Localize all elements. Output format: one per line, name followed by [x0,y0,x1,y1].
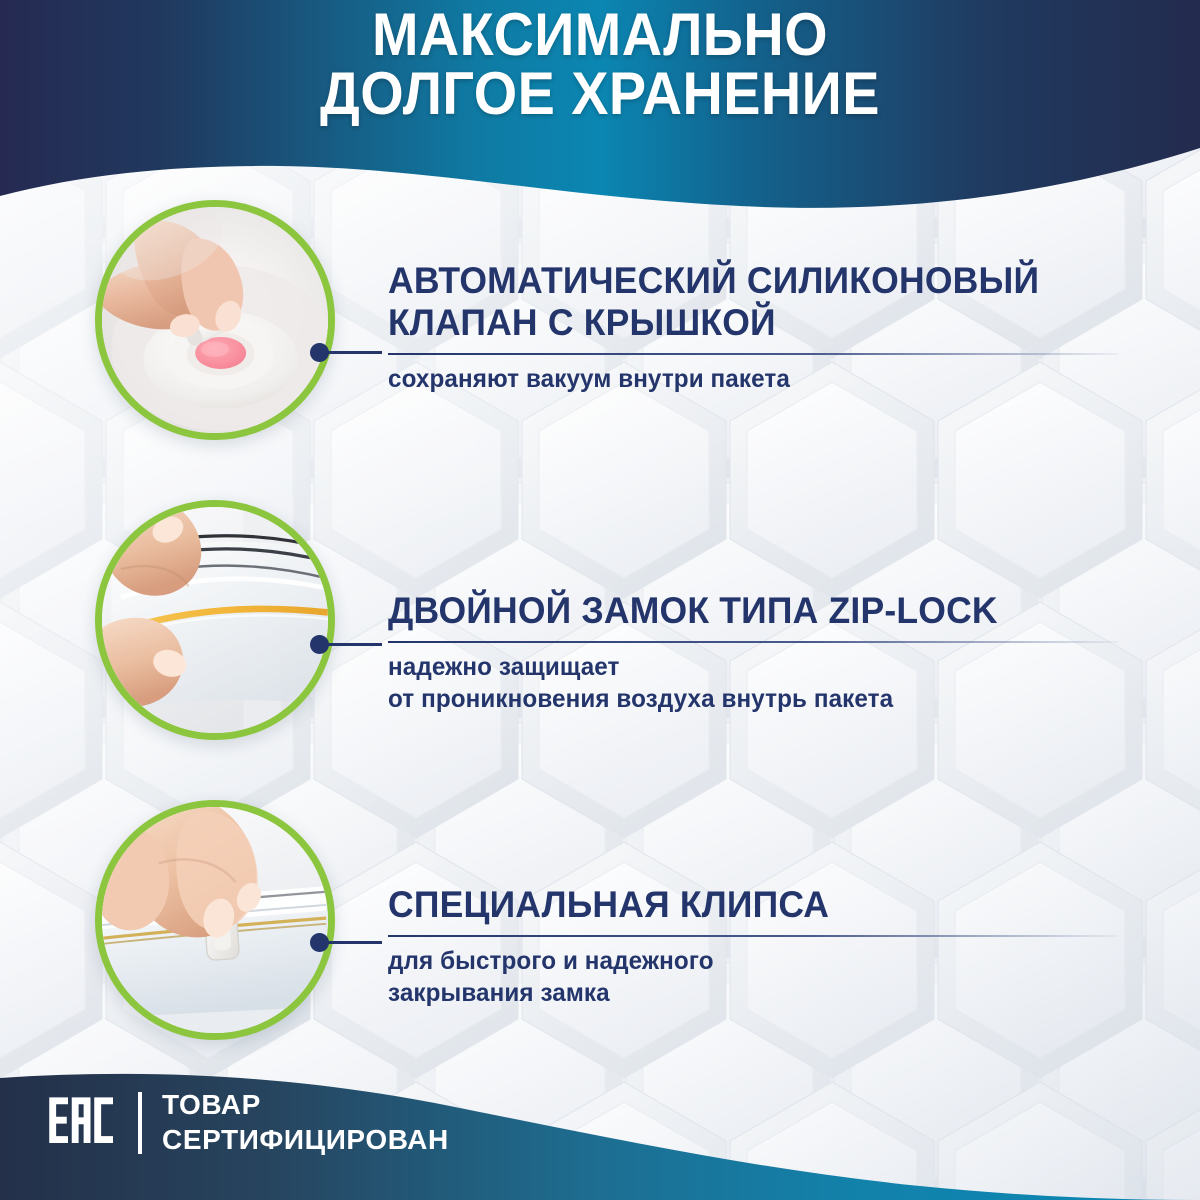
eac-icon [48,1096,118,1150]
certification-text: ТОВАР СЕРТИФИЦИРОВАН [162,1088,449,1157]
clip-illustration [102,807,328,1033]
feature-divider [388,935,1118,937]
feature-subtitle-clip: для быстрого и надежного закрывания замк… [388,945,1096,1009]
footer-banner: ТОВАР СЕРТИФИЦИРОВАН [0,1010,1200,1200]
page-title: МАКСИМАЛЬНО ДОЛГОЕ ХРАНЕНИЕ [42,6,1158,124]
feature-subtitle-valve: сохраняют вакуум внутри пакета [388,363,1096,395]
valve-illustration [102,207,328,433]
feature-title-line: СПЕЦИАЛЬНАЯ КЛИПСА [388,884,1089,926]
silicone-valve-photo [95,200,335,440]
connector-valve [310,340,380,364]
infographic-poster: МАКСИМАЛЬНО ДОЛГОЕ ХРАНЕНИЕ [0,0,1200,1200]
connector-line [326,351,382,354]
title-line-1: МАКСИМАЛЬНО [42,6,1158,65]
feature-title-line: ДВОЙНОЙ ЗАМОК ТИПА ZIP-LOCK [388,590,1089,632]
ziplock-illustration [102,507,328,733]
feature-subtitle-line: закрывания замка [388,977,1096,1009]
certification-line: СЕРТИФИЦИРОВАН [162,1123,449,1158]
feature-divider [388,353,1118,355]
feature-subtitle-ziplock: надежно защищает от проникновения воздух… [388,651,1096,715]
zip-lock-photo [95,500,335,740]
feature-title-clip: СПЕЦИАЛЬНАЯ КЛИПСА [388,884,1089,926]
feature-title-ziplock: ДВОЙНОЙ ЗАМОК ТИПА ZIP-LOCK [388,590,1089,632]
feature-text-clip: СПЕЦИАЛЬНАЯ КЛИПСА для быстрого и надежн… [388,884,1118,1009]
connector-line [326,941,382,944]
feature-text-ziplock: ДВОЙНОЙ ЗАМОК ТИПА ZIP-LOCK надежно защи… [388,590,1118,715]
certification-line: ТОВАР [162,1088,449,1123]
connector-clip [310,930,380,954]
footer-separator [138,1092,142,1154]
feature-subtitle-line: сохраняют вакуум внутри пакета [388,363,1096,395]
feature-title-line: КЛАПАН С КРЫШКОЙ [388,302,1089,344]
feature-subtitle-line: для быстрого и надежного [388,945,1096,977]
header-banner: МАКСИМАЛЬНО ДОЛГОЕ ХРАНЕНИЕ [0,0,1200,230]
connector-line [326,643,382,646]
title-line-2: ДОЛГОЕ ХРАНЕНИЕ [42,65,1158,124]
feature-divider [388,641,1118,643]
feature-subtitle-line: от проникновения воздуха внутрь пакета [388,683,1096,715]
feature-text-valve: АВТОМАТИЧЕСКИЙ СИЛИКОНОВЫЙ КЛАПАН С КРЫШ… [388,260,1118,395]
feature-title-line: АВТОМАТИЧЕСКИЙ СИЛИКОНОВЫЙ [388,260,1089,302]
connector-ziplock [310,632,380,656]
feature-subtitle-line: надежно защищает [388,651,1096,683]
certification-badge: ТОВАР СЕРТИФИЦИРОВАН [48,1088,449,1157]
clip-photo [95,800,335,1040]
feature-title-valve: АВТОМАТИЧЕСКИЙ СИЛИКОНОВЫЙ КЛАПАН С КРЫШ… [388,260,1089,344]
